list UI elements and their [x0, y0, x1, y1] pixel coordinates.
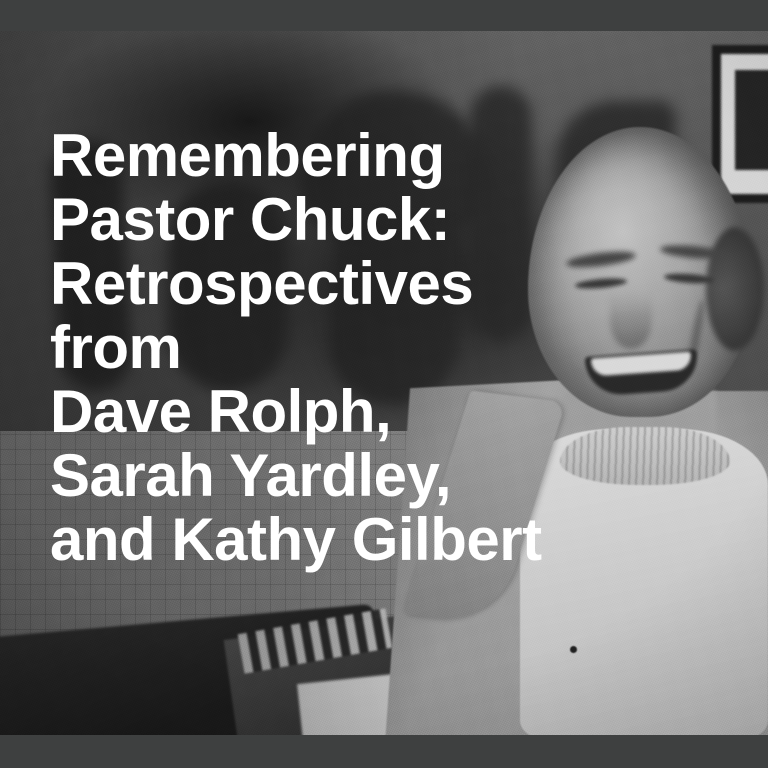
- title-line-7: and Kathy Gilbert: [50, 508, 740, 572]
- title-line-5: Dave Rolph,: [50, 380, 740, 444]
- title-line-4: from: [50, 316, 740, 380]
- letterbox-bar-bottom: [0, 735, 768, 768]
- sweater-detail-dot: [570, 646, 577, 653]
- letterbox-bar-top: [0, 0, 768, 31]
- title-line-2: Pastor Chuck:: [50, 188, 740, 252]
- title-line-3: Retrospectives: [50, 252, 740, 316]
- title-line-1: Remembering: [50, 124, 740, 188]
- title-card: Remembering Pastor Chuck: Retrospectives…: [0, 0, 768, 768]
- papers-shape: [297, 674, 399, 735]
- title-line-6: Sarah Yardley,: [50, 444, 740, 508]
- title-overlay: Remembering Pastor Chuck: Retrospectives…: [50, 124, 740, 572]
